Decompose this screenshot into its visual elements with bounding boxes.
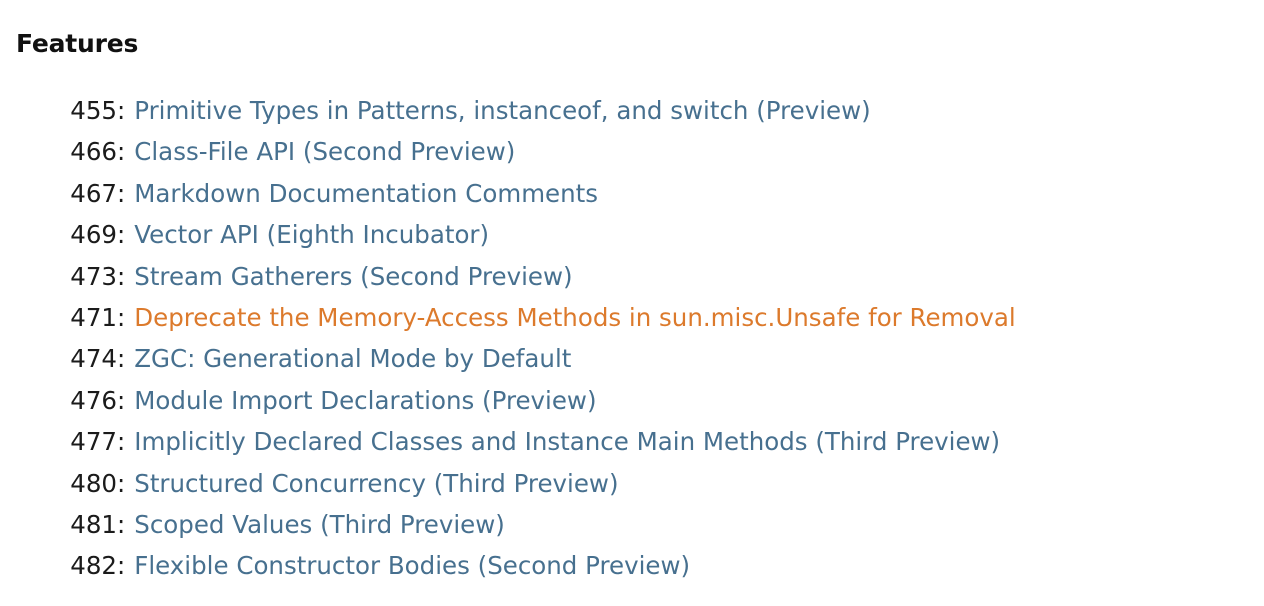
- page-title: Features: [16, 29, 138, 59]
- jep-title-link[interactable]: Deprecate the Memory-Access Methods in s…: [134, 297, 1015, 338]
- jep-number-separator: :: [117, 463, 125, 504]
- jep-number-separator: :: [117, 131, 125, 172]
- feature-list: 455:Primitive Types in Patterns, instanc…: [0, 90, 1264, 587]
- list-item: 467:Markdown Documentation Comments: [0, 173, 1264, 214]
- jep-number-separator: :: [117, 545, 125, 586]
- jep-number: 482: [0, 545, 117, 586]
- jep-number: 481: [0, 504, 117, 545]
- jep-number: 474: [0, 338, 117, 379]
- jep-title-link[interactable]: ZGC: Generational Mode by Default: [134, 338, 571, 379]
- jep-number: 466: [0, 131, 117, 172]
- jep-title-link[interactable]: Scoped Values (Third Preview): [134, 504, 505, 545]
- jep-title-link[interactable]: Class-File API (Second Preview): [134, 131, 515, 172]
- list-item: 469:Vector API (Eighth Incubator): [0, 214, 1264, 255]
- list-item: 481:Scoped Values (Third Preview): [0, 504, 1264, 545]
- list-item: 480:Structured Concurrency (Third Previe…: [0, 463, 1264, 504]
- list-item: 471:Deprecate the Memory-Access Methods …: [0, 297, 1264, 338]
- jep-number: 480: [0, 463, 117, 504]
- jep-number-separator: :: [117, 256, 125, 297]
- jep-number: 455: [0, 90, 117, 131]
- jep-number: 471: [0, 297, 117, 338]
- jep-number: 476: [0, 380, 117, 421]
- list-item: 474:ZGC: Generational Mode by Default: [0, 338, 1264, 379]
- jep-title-link[interactable]: Markdown Documentation Comments: [134, 173, 598, 214]
- jep-number-separator: :: [117, 173, 125, 214]
- jep-number: 473: [0, 256, 117, 297]
- jep-title-link[interactable]: Flexible Constructor Bodies (Second Prev…: [134, 545, 690, 586]
- list-item: 466:Class-File API (Second Preview): [0, 131, 1264, 172]
- list-item: 473:Stream Gatherers (Second Preview): [0, 256, 1264, 297]
- list-item: 482:Flexible Constructor Bodies (Second …: [0, 545, 1264, 586]
- jep-number: 469: [0, 214, 117, 255]
- jep-number: 467: [0, 173, 117, 214]
- jep-number-separator: :: [117, 338, 125, 379]
- jep-number-separator: :: [117, 214, 125, 255]
- jep-title-link[interactable]: Module Import Declarations (Preview): [134, 380, 596, 421]
- jep-number-separator: :: [117, 297, 125, 338]
- jep-title-link[interactable]: Structured Concurrency (Third Preview): [134, 463, 618, 504]
- jep-title-link[interactable]: Stream Gatherers (Second Preview): [134, 256, 572, 297]
- jep-title-link[interactable]: Primitive Types in Patterns, instanceof,…: [134, 90, 870, 131]
- jep-number-separator: :: [117, 90, 125, 131]
- features-page: Features 455:Primitive Types in Patterns…: [0, 0, 1264, 606]
- jep-title-link[interactable]: Implicitly Declared Classes and Instance…: [134, 421, 1000, 462]
- jep-number-separator: :: [117, 421, 125, 462]
- jep-number-separator: :: [117, 504, 125, 545]
- list-item: 477:Implicitly Declared Classes and Inst…: [0, 421, 1264, 462]
- jep-number: 477: [0, 421, 117, 462]
- list-item: 455:Primitive Types in Patterns, instanc…: [0, 90, 1264, 131]
- jep-number-separator: :: [117, 380, 125, 421]
- jep-title-link[interactable]: Vector API (Eighth Incubator): [134, 214, 489, 255]
- list-item: 476:Module Import Declarations (Preview): [0, 380, 1264, 421]
